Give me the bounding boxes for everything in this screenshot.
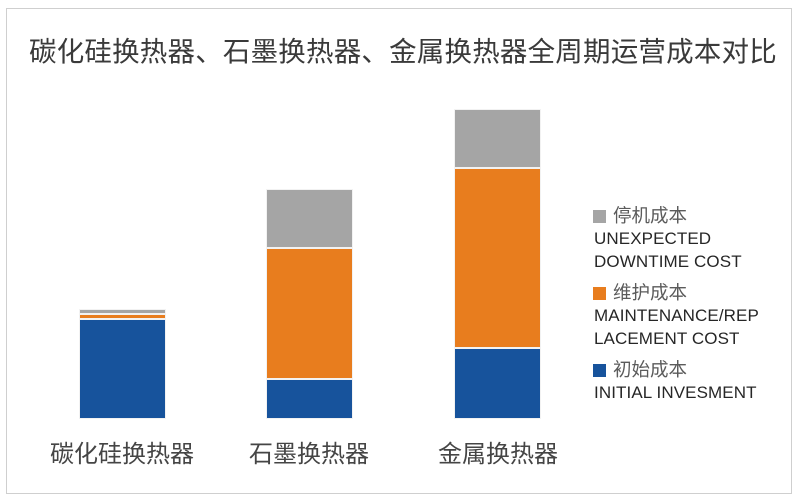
legend-swatch-icon-maintenance-cost (593, 287, 606, 300)
legend-swatch-icon-initial-investment (593, 364, 606, 377)
legend-head-maintenance-cost: 维护成本 (593, 282, 793, 304)
legend-label-en-line2-downtime-cost: DOWNTIME COST (594, 250, 793, 273)
legend-swatch-icon-downtime-cost (593, 210, 606, 223)
bar-segment-downtime-cost[interactable] (454, 109, 541, 168)
legend-label-cn-downtime-cost: 停机成本 (613, 205, 687, 227)
bar-segment-initial-investment[interactable] (266, 379, 353, 419)
chart-legend: 停机成本 UNEXPECTED DOWNTIME COST 维护成本 MAINT… (593, 205, 793, 413)
legend-label-cn-maintenance-cost: 维护成本 (613, 282, 687, 304)
bar-segment-downtime-cost[interactable] (266, 189, 353, 248)
bar-segment-maintenance-cost[interactable] (266, 248, 353, 379)
chart-frame: 碳化硅换热器、石墨换热器、金属换热器全周期运营成本对比 碳化硅换热器 石墨换热器… (6, 8, 792, 494)
legend-label-en-line2-maintenance-cost: LACEMENT COST (594, 327, 793, 350)
bar-segment-initial-investment[interactable] (79, 319, 166, 419)
legend-label-cn-initial-investment: 初始成本 (613, 359, 687, 381)
legend-item-initial-investment[interactable]: 初始成本 INITIAL INVESMENT (593, 359, 793, 404)
category-label-metal: 金属换热器 (403, 441, 593, 469)
legend-label-en-line1-initial-investment: INITIAL INVESMENT (594, 381, 793, 404)
legend-item-maintenance-cost[interactable]: 维护成本 MAINTENANCE/REP LACEMENT COST (593, 282, 793, 350)
bar-metal[interactable] (454, 109, 541, 419)
legend-head-initial-investment: 初始成本 (593, 359, 793, 381)
legend-head-downtime-cost: 停机成本 (593, 205, 793, 227)
category-label-graphite: 石墨换热器 (214, 441, 404, 469)
legend-item-downtime-cost[interactable]: 停机成本 UNEXPECTED DOWNTIME COST (593, 205, 793, 273)
bar-segment-initial-investment[interactable] (454, 348, 541, 419)
bar-silicon-carbide[interactable] (79, 309, 166, 419)
legend-label-en-line1-maintenance-cost: MAINTENANCE/REP (594, 304, 793, 327)
category-label-silicon-carbide: 碳化硅换热器 (17, 441, 227, 469)
bar-segment-maintenance-cost[interactable] (454, 168, 541, 348)
legend-label-en-line1-downtime-cost: UNEXPECTED (594, 227, 793, 250)
bar-graphite[interactable] (266, 189, 353, 419)
